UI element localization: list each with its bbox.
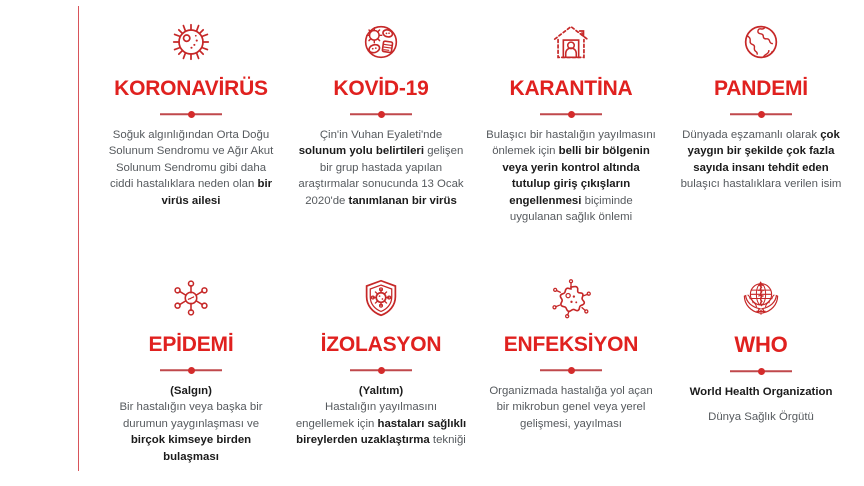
card-description-body: Dünya Sağlık Örgütü bbox=[690, 409, 833, 425]
card-description: Organizmada hastalığa yol açan bir mikro… bbox=[485, 383, 657, 432]
card-description: Bulaşıcı bir hastalığın yayılmasını önle… bbox=[485, 127, 657, 225]
card-description: Soğuk algınlığından Orta Doğu Solunum Se… bbox=[105, 127, 277, 209]
card-description: Çin'in Vuhan Eyaleti'nde solunum yolu be… bbox=[295, 127, 467, 209]
term-card-kovid-19: KOVİD-19 Çin'in Vuhan Eyaleti'nde solunu… bbox=[286, 14, 476, 270]
left-vertical-rule bbox=[78, 6, 79, 471]
outbreak-network-icon bbox=[168, 270, 214, 326]
term-card-karantina: KARANTİNA Bulaşıcı bir hastalığın yayılm… bbox=[476, 14, 666, 270]
coronavirus-icon bbox=[168, 14, 214, 70]
divider-dot bbox=[378, 367, 385, 374]
card-title: ENFEKSİYON bbox=[504, 334, 639, 355]
title-divider bbox=[730, 108, 792, 120]
virus-cell-icon bbox=[358, 14, 404, 70]
term-card-koronavirus: KORONAVİRÜS Soğuk algınlığından Orta Doğ… bbox=[96, 14, 286, 270]
card-description: World Health Organization Dünya Sağlık Ö… bbox=[690, 384, 833, 426]
terms-grid: KORONAVİRÜS Soğuk algınlığından Orta Doğ… bbox=[96, 14, 856, 474]
card-title: EPİDEMİ bbox=[149, 334, 234, 355]
card-title: İZOLASYON bbox=[321, 334, 442, 355]
covid-terms-infographic: KORONAVİRÜS Soğuk algınlığından Orta Doğ… bbox=[0, 0, 864, 486]
divider-dot bbox=[758, 111, 765, 118]
divider-dot bbox=[188, 111, 195, 118]
card-title: WHO bbox=[734, 334, 787, 356]
title-divider bbox=[160, 108, 222, 120]
term-card-epidemi: EPİDEMİ (Salgın) Bir hastalığın veya baş… bbox=[96, 270, 286, 474]
card-title: PANDEMİ bbox=[714, 78, 808, 99]
title-divider bbox=[350, 364, 412, 376]
term-card-pandemi: PANDEMİ Dünyada eşzamanlı olarak çok yay… bbox=[666, 14, 856, 270]
term-card-enfeksiyon: ENFEKSİYON Organizmada hastalığa yol aça… bbox=[476, 270, 666, 474]
microbe-icon bbox=[548, 270, 594, 326]
card-subtitle: (Yalıtım) bbox=[295, 383, 467, 399]
card-description: Dünyada eşzamanlı olarak çok yaygın bir … bbox=[675, 127, 847, 193]
card-title: KARANTİNA bbox=[509, 78, 632, 99]
divider-dot bbox=[378, 111, 385, 118]
title-divider bbox=[540, 364, 602, 376]
quarantine-house-icon bbox=[548, 14, 594, 70]
term-card-izolasyon: İZOLASYON (Yalıtım) Hastalığın yayılması… bbox=[286, 270, 476, 474]
globe-icon bbox=[738, 14, 784, 70]
title-divider bbox=[350, 108, 412, 120]
card-title: KOVİD-19 bbox=[333, 78, 428, 99]
title-divider bbox=[540, 108, 602, 120]
title-divider bbox=[730, 365, 792, 377]
card-description: (Salgın) Bir hastalığın veya başka bir d… bbox=[105, 383, 277, 465]
divider-dot bbox=[758, 368, 765, 375]
divider-dot bbox=[568, 111, 575, 118]
term-card-who: WHO World Health Organization Dünya Sağl… bbox=[666, 270, 856, 474]
divider-dot bbox=[188, 367, 195, 374]
title-divider bbox=[160, 364, 222, 376]
divider-dot bbox=[568, 367, 575, 374]
card-subtitle: (Salgın) bbox=[105, 383, 277, 399]
card-subtitle: World Health Organization bbox=[690, 384, 833, 400]
card-description-body: Bir hastalığın veya başka bir durumun ya… bbox=[119, 401, 262, 462]
shield-virus-icon bbox=[358, 270, 404, 326]
card-title: KORONAVİRÜS bbox=[114, 78, 268, 99]
card-description-body: Hastalığın yayılmasını engellemek için h… bbox=[296, 401, 466, 446]
who-logo-icon bbox=[737, 270, 785, 326]
card-description: (Yalıtım) Hastalığın yayılmasını engelle… bbox=[295, 383, 467, 449]
